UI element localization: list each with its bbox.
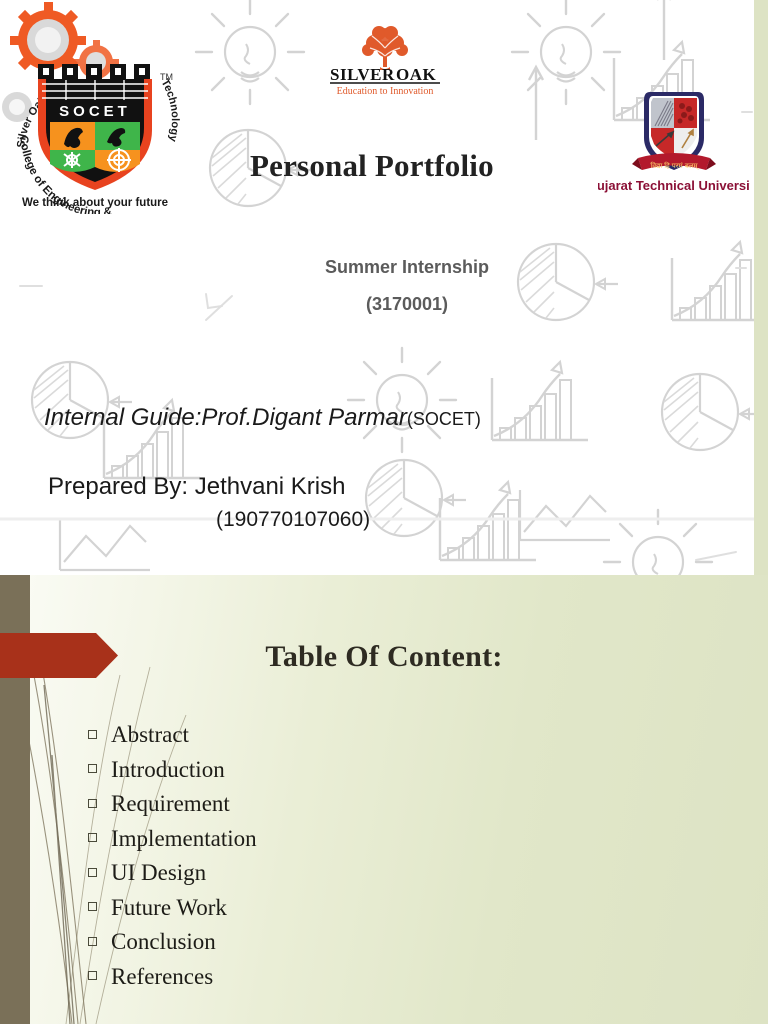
internal-guide-dept: (SOCET) <box>407 409 481 429</box>
toc-item-label: References <box>111 964 213 990</box>
red-arrow-banner <box>0 633 118 678</box>
gtu-logo: विद्या हि परमं बलम् Gujarat Technical Un… <box>598 86 750 196</box>
toc-item-label: Future Work <box>111 895 227 921</box>
subject-code: (3170001) <box>0 294 754 315</box>
socet-logo: TM Silver Oak College of Engineering & <box>2 2 188 214</box>
list-item[interactable]: References <box>88 960 257 995</box>
list-item[interactable]: Requirement <box>88 787 257 822</box>
list-item[interactable]: Conclusion <box>88 925 257 960</box>
internal-guide-line: Internal Guide:Prof.Digant Parmar(SOCET) <box>44 404 481 432</box>
square-bullet-icon <box>88 799 97 808</box>
svg-text:SOCET: SOCET <box>59 103 131 120</box>
enrollment-number: (190770107060) <box>216 508 370 532</box>
toc-item-label: Requirement <box>111 791 230 817</box>
toc-list: Abstract Introduction Requirement Implem… <box>88 718 257 994</box>
svg-text:Technology: Technology <box>158 77 180 143</box>
prepared-by-line: Prepared By: Jethvani Krish <box>48 473 345 501</box>
square-bullet-icon <box>88 730 97 739</box>
list-item[interactable]: UI Design <box>88 856 257 891</box>
square-bullet-icon <box>88 937 97 946</box>
page-title: Personal Portfolio <box>250 148 580 184</box>
slide-title: TM Silver Oak College of Engineering & <box>0 0 754 575</box>
square-bullet-icon <box>88 902 97 911</box>
toc-item-label: Abstract <box>111 722 189 748</box>
list-item[interactable]: Introduction <box>88 753 257 788</box>
square-bullet-icon <box>88 833 97 842</box>
toc-item-label: Conclusion <box>111 929 216 955</box>
presentation-deck: TM Silver Oak College of Engineering & <box>0 0 768 1024</box>
svg-text:विद्या हि परमं बलम्: विद्या हि परमं बलम् <box>650 161 698 170</box>
gtu-caption: Gujarat Technical University <box>598 178 750 193</box>
silver-oak-logo: SILVER OAK Education to Innovation <box>322 24 448 96</box>
svg-text:Education to Innovation: Education to Innovation <box>337 86 434 96</box>
svg-text:SILVER: SILVER <box>330 65 395 84</box>
square-bullet-icon <box>88 868 97 877</box>
toc-item-label: Implementation <box>111 826 257 852</box>
list-item[interactable]: Abstract <box>88 718 257 753</box>
toc-item-label: Introduction <box>111 757 225 783</box>
square-bullet-icon <box>88 764 97 773</box>
list-item[interactable]: Implementation <box>88 822 257 857</box>
internal-guide-name: Internal Guide:Prof.Digant Parmar <box>44 404 407 431</box>
square-bullet-icon <box>88 971 97 980</box>
list-item[interactable]: Future Work <box>88 891 257 926</box>
subject-line: Summer Internship <box>0 257 754 278</box>
svg-text:We think about your future: We think about your future <box>22 197 168 209</box>
toc-item-label: UI Design <box>111 860 206 886</box>
svg-text:OAK: OAK <box>396 65 437 84</box>
